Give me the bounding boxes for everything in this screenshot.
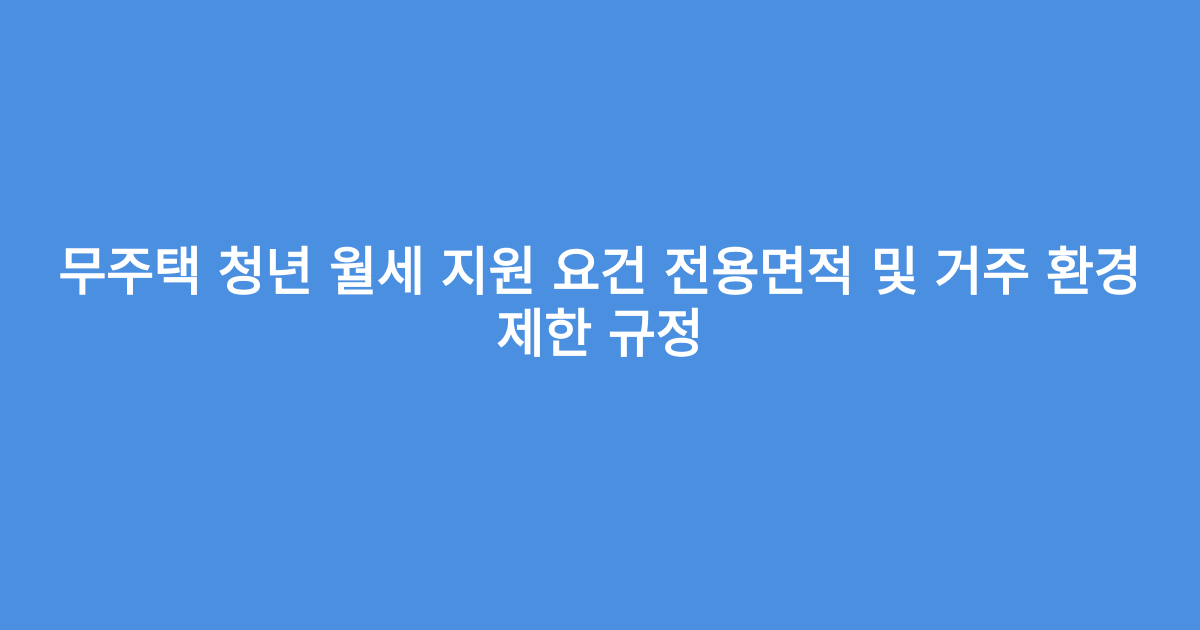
social-share-card: 무주택 청년 월세 지원 요건 전용면적 및 거주 환경 제한 규정 [0, 0, 1200, 630]
title-block: 무주택 청년 월세 지원 요건 전용면적 및 거주 환경 제한 규정 [50, 242, 1150, 366]
page-title: 무주택 청년 월세 지원 요건 전용면적 및 거주 환경 제한 규정 [50, 242, 1150, 366]
